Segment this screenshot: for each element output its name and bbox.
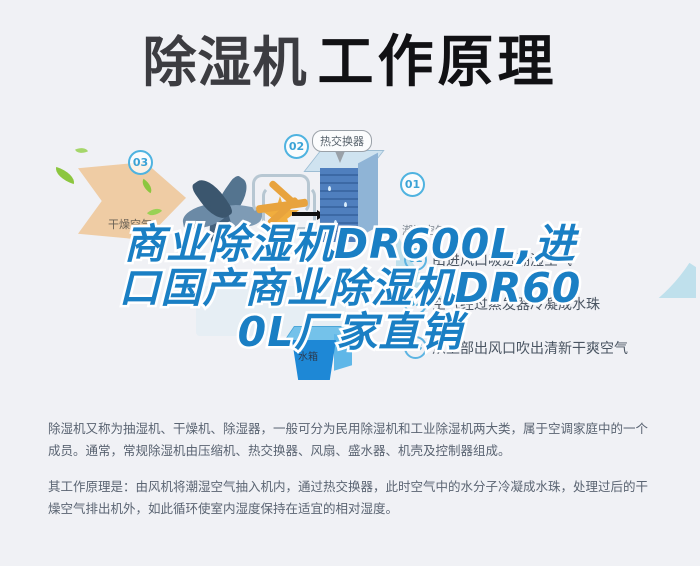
heat-exchanger-callout: 热交换器 [312,130,372,152]
dry-air-label: 干燥空气 [108,216,152,232]
badge-step-01: 01 [400,172,425,197]
page-title: 除湿机 工作原理 [0,28,700,98]
badge-step-03: 03 [128,150,153,175]
list-item: 01 由进风口吸进潮湿空气 [404,248,694,271]
step-number: 03 [404,336,427,359]
badge-step-02: 02 [284,134,309,159]
step-text: 空气经过蒸发器冷凝成水珠 [432,294,600,314]
heat-exchanger-icon [310,150,382,246]
leaf-icon [53,167,77,184]
water-tank-label: 水箱 [298,348,318,363]
paragraph-definition: 除湿机又称为抽湿机、干燥机、除湿器，一般可分为民用除湿机和工业除湿机两大类，属于… [48,418,654,462]
leaf-icon [75,145,88,156]
description-section: 除湿机又称为抽湿机、干燥机、除湿器，一般可分为民用除湿机和工业除湿机两大类，属于… [48,418,654,534]
humid-air-label: 潮湿空气 [402,222,446,238]
step-text: 由进风口吸进潮湿空气 [432,250,572,270]
list-item: 02 空气经过蒸发器冷凝成水珠 [404,292,694,315]
title-topic: 工作原理 [318,35,558,91]
paragraph-principle: 其工作原理是：由风机将潮湿空气抽入机内，通过热交换器，此时空气中的水分子冷凝成水… [48,476,654,520]
list-item: 03 从上部出风口吹出清新干爽空气 [404,336,694,359]
title-subject: 除湿机 [143,36,308,90]
poster-page: 除湿机 工作原理 干燥空气 [0,0,700,566]
water-tank-icon: 水箱 [282,326,362,388]
step-number: 02 [404,292,427,315]
step-text: 从上部出风口吹出清新干爽空气 [432,338,628,358]
step-number: 01 [404,248,427,271]
diagram-illustration: 干燥空气 [0,110,700,400]
steps-list: 01 由进风口吸进潮湿空气 02 空气经过蒸发器冷凝成水珠 03 从上部出风口吹… [404,248,694,380]
heat-exchanger-label: 热交换器 [320,135,364,148]
